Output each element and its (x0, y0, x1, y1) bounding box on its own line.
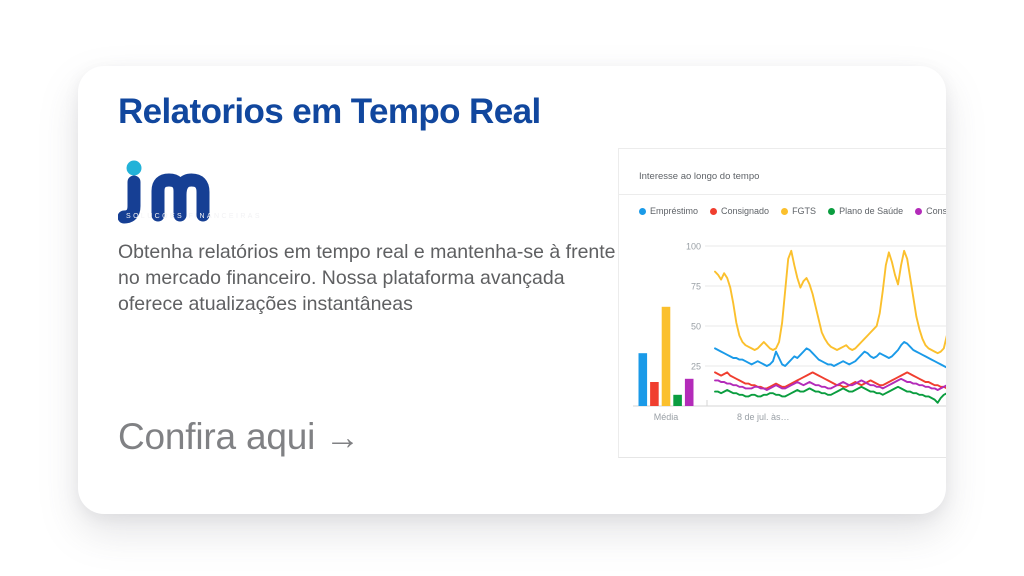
x-axis-tick-label: Média (654, 412, 679, 422)
legend-color-dot (915, 208, 922, 215)
logo-dot (127, 161, 142, 176)
legend-item[interactable]: Plano de Saúde (828, 206, 903, 216)
legend-label: Consórcio (926, 206, 946, 216)
y-axis-tick-label: 75 (691, 282, 701, 292)
series-line[interactable] (715, 248, 946, 354)
x-axis-tick-label: 8 de jul. às… (737, 412, 790, 422)
screenshot-root: Relatorios em Tempo Real SOLUCOES FINANC… (0, 0, 1024, 576)
jm-logo: SOLUCOES FINANCEIRAS (118, 151, 238, 229)
legend-color-dot (710, 208, 717, 215)
y-axis-tick-label: 50 (691, 322, 701, 332)
y-axis-tick-label: 25 (691, 362, 701, 372)
legend-label: Plano de Saúde (839, 206, 903, 216)
legend-label: Consignado (721, 206, 769, 216)
legend-item[interactable]: Consórcio (915, 206, 946, 216)
chart-legend: EmpréstimoConsignadoFGTSPlano de SaúdeCo… (619, 195, 946, 216)
page-title: Relatorios em Tempo Real (118, 92, 638, 131)
legend-label: Empréstimo (650, 206, 698, 216)
average-bar[interactable] (639, 353, 648, 406)
average-bar[interactable] (685, 379, 694, 406)
card-left-column: Relatorios em Tempo Real SOLUCOES FINANC… (118, 92, 638, 318)
chart-panel: Interesse ao longo do tempo EmpréstimoCo… (618, 148, 946, 458)
legend-label: FGTS (792, 206, 816, 216)
average-bar[interactable] (650, 382, 659, 406)
average-bar[interactable] (673, 395, 682, 406)
cta-label: Confira aqui (118, 416, 315, 457)
legend-color-dot (781, 208, 788, 215)
legend-color-dot (828, 208, 835, 215)
arrow-right-icon: → (325, 418, 360, 457)
body-copy: Obtenha relatórios em tempo real e mante… (118, 239, 618, 317)
logo-letter-j (124, 182, 134, 217)
promo-card: Relatorios em Tempo Real SOLUCOES FINANC… (78, 66, 946, 514)
legend-item[interactable]: FGTS (781, 206, 816, 216)
legend-item[interactable]: Empréstimo (639, 206, 698, 216)
series-line[interactable] (715, 372, 946, 388)
cta-link[interactable]: Confira aqui→ (118, 416, 360, 458)
average-bar[interactable] (662, 307, 671, 406)
legend-color-dot (639, 208, 646, 215)
chart-plot-area: 255075100Média8 de jul. às…11 de jul. às… (619, 236, 946, 432)
chart-title: Interesse ao longo do tempo (619, 149, 946, 182)
legend-item[interactable]: Consignado (710, 206, 769, 216)
interest-over-time-chart: 255075100Média8 de jul. às…11 de jul. às… (619, 236, 946, 432)
logo-tagline: SOLUCOES FINANCEIRAS (126, 213, 262, 220)
y-axis-tick-label: 100 (686, 242, 701, 252)
